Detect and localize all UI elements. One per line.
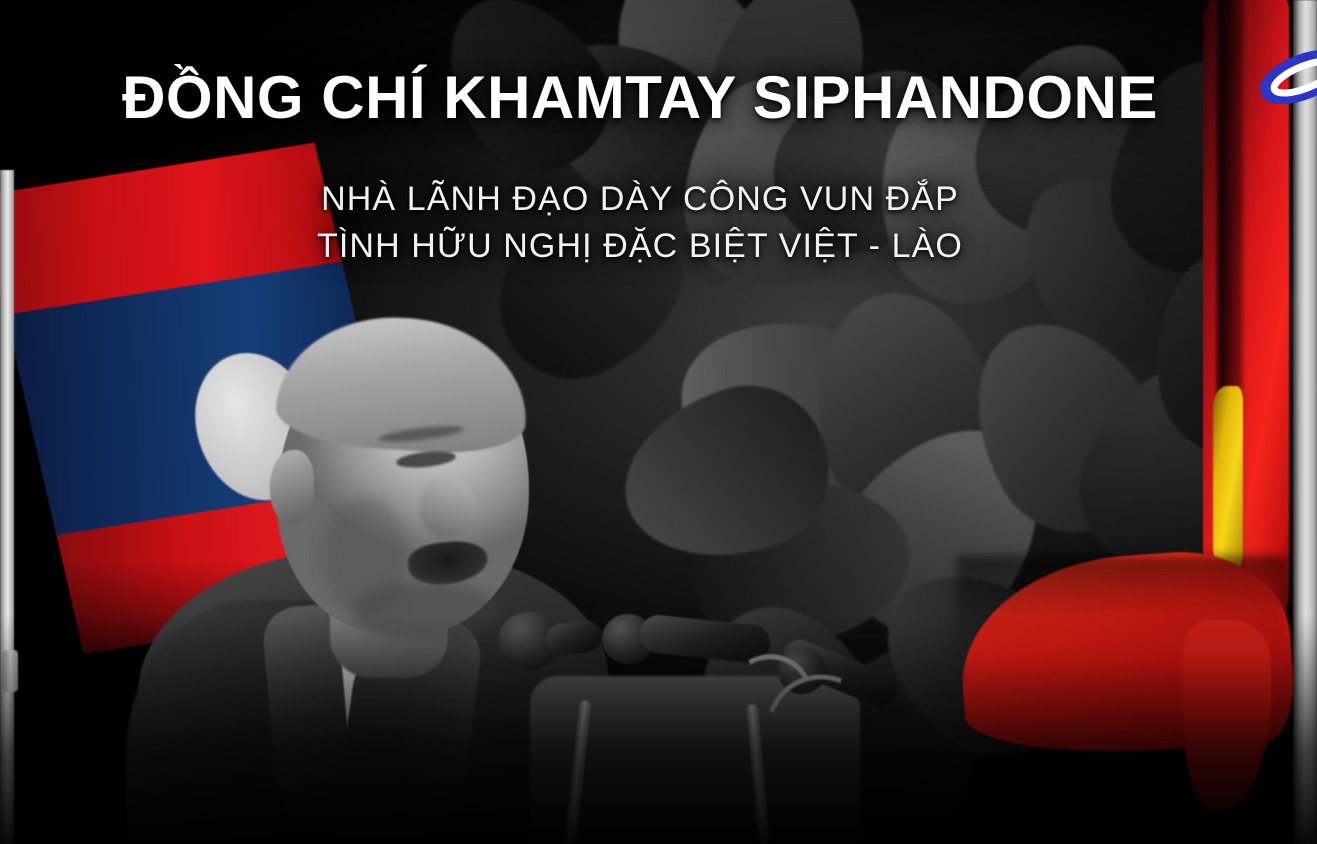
memorial-graphic: ĐỒNG CHÍ KHAMTAY SIPHANDONE NHÀ LÃNH ĐẠO…: [0, 0, 1317, 844]
portrait-nose: [420, 476, 476, 538]
microphone-stem-left: [565, 700, 592, 844]
vietnam-flagpole: [1293, 0, 1317, 844]
laos-flagpole-clip: [2, 650, 18, 692]
portrait-ear: [270, 450, 314, 524]
podium-microphones: [480, 596, 900, 844]
vietnam-flag-yellow-star: [1213, 386, 1243, 572]
laos-flagpole: [0, 170, 14, 844]
